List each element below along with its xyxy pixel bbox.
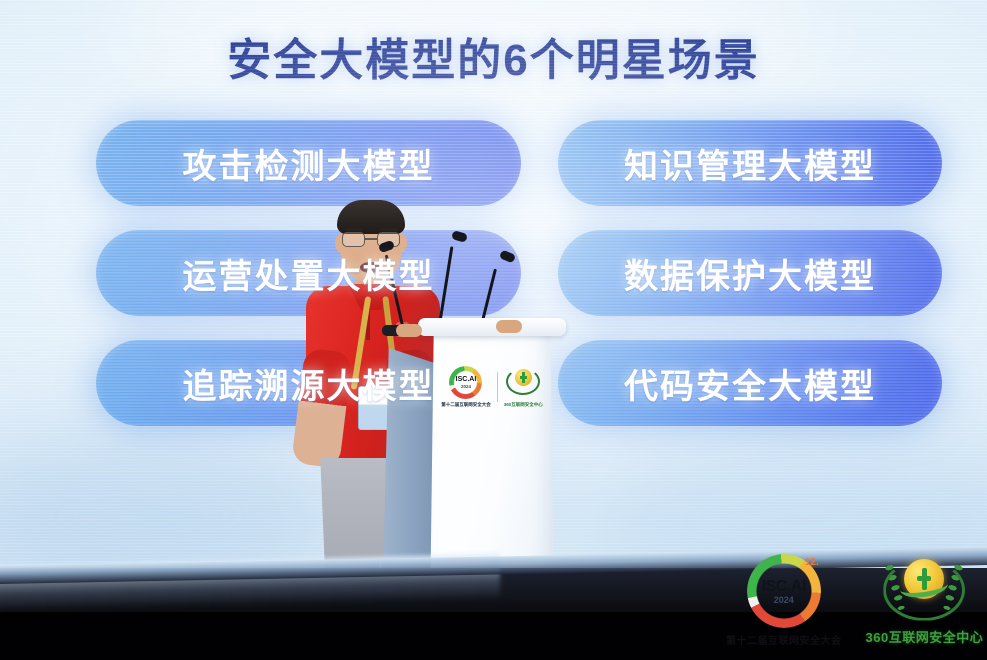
conference-stage-photo: 安全大模型的6个明星场景 攻击检测大模型 知识管理大模型 运营处置大模型 数据保… xyxy=(0,0,987,660)
slide-title: 安全大模型的6个明星场景 xyxy=(0,24,987,88)
speaker-hand-right xyxy=(496,320,522,333)
qihoo-security-logo-icon xyxy=(883,555,965,625)
pill-label: 代码安全大模型 xyxy=(624,359,876,408)
isc-year: 2024 xyxy=(449,384,482,389)
screen-brand-lockup: 12. ISC.AI 2024 第十二届互联网安全大会 360互联网安全中心 xyxy=(726,548,978,652)
pill-label: 追踪溯源大模型 xyxy=(183,359,435,408)
podium-qihoo-logo: 360互联网安全中心 xyxy=(504,366,543,408)
isc-ai-logo-icon: 12. ISC.AI 2024 xyxy=(747,554,821,628)
pill-label: 攻击检测大模型 xyxy=(183,139,435,188)
microphone-stem xyxy=(438,246,454,327)
pill-attack-detection: 攻击检测大模型 xyxy=(96,120,521,206)
podium-isc-logo: ISC.AI 2024 第十二届互联网安全大会 xyxy=(441,366,491,408)
isc-edition-superscript: 12. xyxy=(805,557,819,568)
pill-label: 知识管理大模型 xyxy=(624,139,876,188)
eyeglass-bridge xyxy=(365,238,377,240)
qihoo-caption: 360互联网安全中心 xyxy=(866,627,984,646)
isc-wordmark: ISC.AI xyxy=(747,578,821,596)
podium-logo-divider xyxy=(497,372,498,402)
microphone-head xyxy=(451,230,468,243)
eyeglass-lens-left xyxy=(342,232,365,247)
speaker-hand-left xyxy=(396,324,422,337)
green-cross-icon xyxy=(520,372,527,383)
podium-qihoo-caption: 360互联网安全中心 xyxy=(504,402,543,408)
pill-label: 数据保护大模型 xyxy=(624,249,876,298)
podium-isc-caption: 第十二届互联网安全大会 xyxy=(441,402,491,408)
pill-knowledge-management: 知识管理大模型 xyxy=(558,120,942,206)
green-cross-icon xyxy=(917,568,931,590)
pill-data-protection: 数据保护大模型 xyxy=(558,230,942,316)
speaker-eyebrow-left xyxy=(345,228,363,231)
qihoo-shield-icon xyxy=(505,366,541,399)
isc-year: 2024 xyxy=(747,595,821,605)
qihoo-logo-block: 360互联网安全中心 xyxy=(866,555,984,646)
podium-logo-lockup: ISC.AI 2024 第十二届互联网安全大会 360互联网安全中心 xyxy=(440,366,544,408)
isc-caption: 第十二届互联网安全大会 xyxy=(726,632,842,647)
microphone-head xyxy=(499,250,516,264)
speaker-eyebrow-right xyxy=(380,228,398,231)
isc-wordmark: ISC.AI xyxy=(449,376,482,383)
isc-logo-block: 12. ISC.AI 2024 第十二届互联网安全大会 xyxy=(726,554,842,647)
pill-label: 运营处置大模型 xyxy=(183,249,435,298)
pill-code-security: 代码安全大模型 xyxy=(558,340,942,426)
podium-lectern-top xyxy=(418,318,566,336)
isc-ring-icon: ISC.AI 2024 xyxy=(449,366,482,399)
